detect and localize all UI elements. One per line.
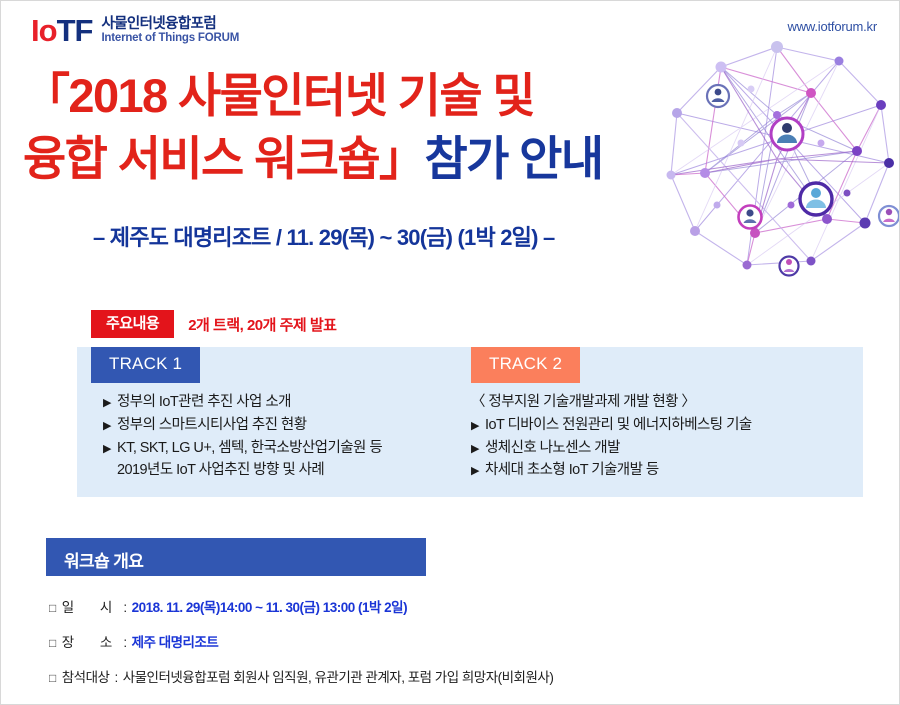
poster-root: IoTF 사물인터넷융합포럼 Internet of Things FORUM … [0,0,900,705]
title-subtitle: – 제주도 대명리조트 / 11. 29(목) ~ 30(금) (1박 2일) … [93,220,554,252]
checkbox-icon: □ [49,671,56,685]
logo-wordmark-io: Io [31,13,57,48]
track-2-item-label: 생체신호 나노센스 개발 [485,437,620,460]
track-1-tag: TRACK 1 [91,347,200,383]
logo-text-korean: 사물인터넷융합포럼 [101,16,239,32]
bullet-icon: ▶ [103,441,117,458]
overview-heading-label: 워크숍 개요 [64,547,143,572]
title-line-1: 「2018 사물인터넷 기술 및 [23,65,602,128]
detail-label: 장 소 [62,631,124,651]
title-line-2: 융합 서비스 워크숍」참가 안내 [23,128,602,191]
detail-label: 참석대상 [62,666,110,686]
page-title: 「2018 사물인터넷 기술 및 융합 서비스 워크숍」참가 안내 [23,65,602,190]
track-2-item-label: 차세대 초소형 IoT 기술개발 등 [485,459,659,482]
track-1-item-label: KT, SKT, LG U+, 셈텍, 한국소방산업기술원 등 [117,437,382,460]
bullet-icon: ▶ [471,441,485,458]
bullet-icon: ▶ [471,418,485,435]
title-line-2-red: 융합 서비스 워크숍」 [23,132,424,185]
track-2-item: ▶ 차세대 초소형 IoT 기술개발 등 [471,459,851,482]
title-line-1-text: 「2018 사물인터넷 기술 및 [23,69,534,122]
iot-network-sphere-graphic [651,33,900,285]
site-url-link[interactable]: www.iotforum.kr [788,19,877,34]
detail-separator: : [123,600,126,615]
detail-row-datetime: □ 일 시 : 2018. 11. 29(목)14:00 ~ 11. 30(금)… [49,596,879,616]
detail-row-venue: □ 장 소 : 제주 대명리조트 [49,631,879,651]
detail-separator: : [123,635,126,650]
track-1-item: ▶ 정부의 스마트시티사업 추진 현황 [103,414,473,437]
bullet-icon: ▶ [471,463,485,480]
key-content-badge: 주요내용 [91,310,174,338]
track-1-item-continuation: 2019년도 IoT 사업추진 방향 및 사례 [103,459,473,482]
track-2-heading: 〈 정부지원 기술개발과제 개발 현황 〉 [471,391,851,414]
detail-value: 제주 대명리조트 [132,631,219,651]
key-content-row: 주요내용 2개 트랙, 20개 주제 발표 [91,310,336,338]
track-2-item: ▶ IoT 디바이스 전원관리 및 에너지하베스팅 기술 [471,414,851,437]
track-1-item-label: 정부의 스마트시티사업 추진 현황 [117,414,307,437]
track-1-item-label: 정부의 IoT관련 추진 사업 소개 [117,391,291,414]
overview-details: □ 일 시 : 2018. 11. 29(목)14:00 ~ 11. 30(금)… [49,596,879,705]
logo-text: 사물인터넷융합포럼 Internet of Things FORUM [101,16,239,46]
bullet-icon: ▶ [103,395,117,412]
checkbox-icon: □ [49,636,56,650]
tracks-panel: TRACK 1 TRACK 2 ▶ 정부의 IoT관련 추진 사업 소개 ▶ 정… [77,347,863,497]
detail-row-attendees-continuation: 정보통신기술진흥센터(IITP) 과제 참여 기관ㆍ기업 임직원 등 110여명 [49,701,879,705]
detail-label: 일 시 [62,596,124,616]
track-1-item: ▶ 정부의 IoT관련 추진 사업 소개 [103,391,473,414]
detail-separator: : [114,670,117,685]
key-content-note: 2개 트랙, 20개 주제 발표 [188,314,336,335]
logo-wordmark-tf: TF [57,13,93,48]
overview-heading-bar: 워크숍 개요 [46,538,426,576]
logo-wordmark: IoTF [31,15,92,46]
detail-value: 사물인터넷융합포럼 회원사 임직원, 유관기관 관계자, 포럼 가입 희망자(비… [123,666,554,686]
track-1-item: ▶ KT, SKT, LG U+, 셈텍, 한국소방산업기술원 등 [103,437,473,460]
detail-value-continuation: 정보통신기술진흥센터(IITP) 과제 참여 기관ㆍ기업 임직원 등 110여명 [141,701,509,705]
detail-value: 2018. 11. 29(목)14:00 ~ 11. 30(금) 13:00 (… [132,596,407,616]
track-2-item: ▶ 생체신호 나노센스 개발 [471,437,851,460]
title-line-2-navy: 참가 안내 [424,132,602,185]
track-2-item-label: IoT 디바이스 전원관리 및 에너지하베스팅 기술 [485,414,752,437]
iotf-logo: IoTF 사물인터넷융합포럼 Internet of Things FORUM [31,15,239,46]
checkbox-icon: □ [49,601,56,615]
track-1-content: ▶ 정부의 IoT관련 추진 사업 소개 ▶ 정부의 스마트시티사업 추진 현황… [103,391,473,482]
logo-text-english: Internet of Things FORUM [101,32,239,45]
detail-row-attendees: □ 참석대상 : 사물인터넷융합포럼 회원사 임직원, 유관기관 관계자, 포럼… [49,666,879,686]
track-2-content: 〈 정부지원 기술개발과제 개발 현황 〉 ▶ IoT 디바이스 전원관리 및 … [471,391,851,482]
bullet-icon: ▶ [103,418,117,435]
track-2-tag: TRACK 2 [471,347,580,383]
